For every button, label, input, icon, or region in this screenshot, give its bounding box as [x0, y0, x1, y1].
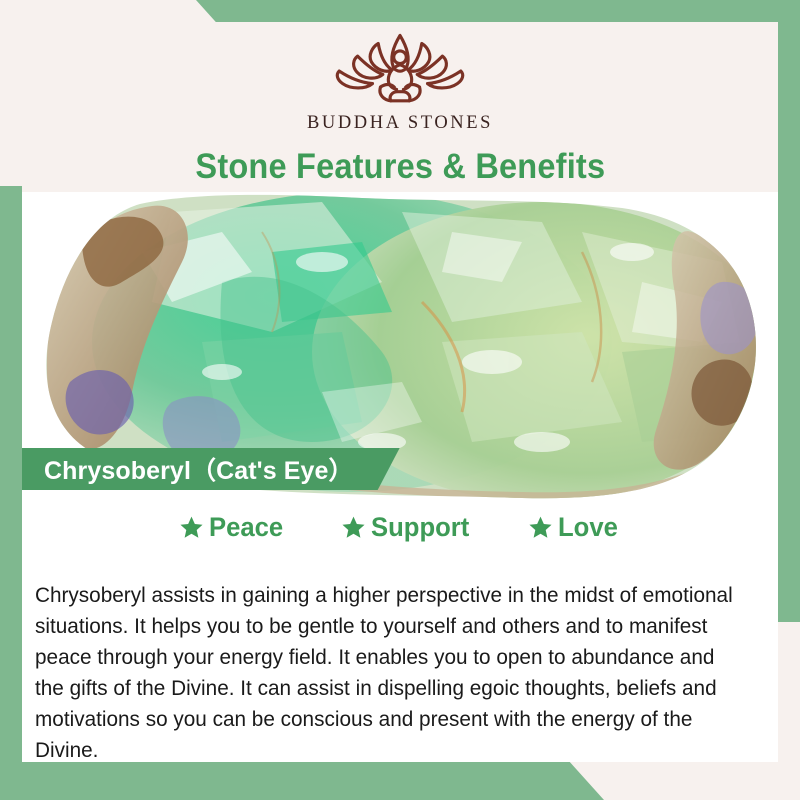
keyword-label: Peace [209, 512, 283, 543]
lotus-meditation-icon [322, 24, 478, 110]
stone-description: Chrysoberyl assists in gaining a higher … [35, 580, 744, 766]
brand-logo: BUDDHA STONES [0, 24, 800, 134]
star-icon [179, 515, 204, 540]
keyword-love: Love [528, 512, 621, 543]
star-icon [528, 515, 553, 540]
keyword-support: Support [341, 512, 474, 543]
star-icon [341, 515, 366, 540]
stone-name-label: Chrysoberyl（Cat's Eye） [22, 448, 400, 490]
brand-name: BUDDHA STONES [0, 113, 800, 134]
stone-info-poster: BUDDHA STONES Stone Features & Benefits [0, 0, 800, 800]
keyword-peace: Peace [179, 512, 287, 543]
keyword-label: Love [558, 512, 618, 543]
keyword-label: Support [371, 512, 469, 543]
page-title: Stone Features & Benefits [195, 147, 605, 187]
title-band: Stone Features & Benefits [22, 141, 778, 192]
keyword-row: Peace Support Love [22, 512, 778, 543]
